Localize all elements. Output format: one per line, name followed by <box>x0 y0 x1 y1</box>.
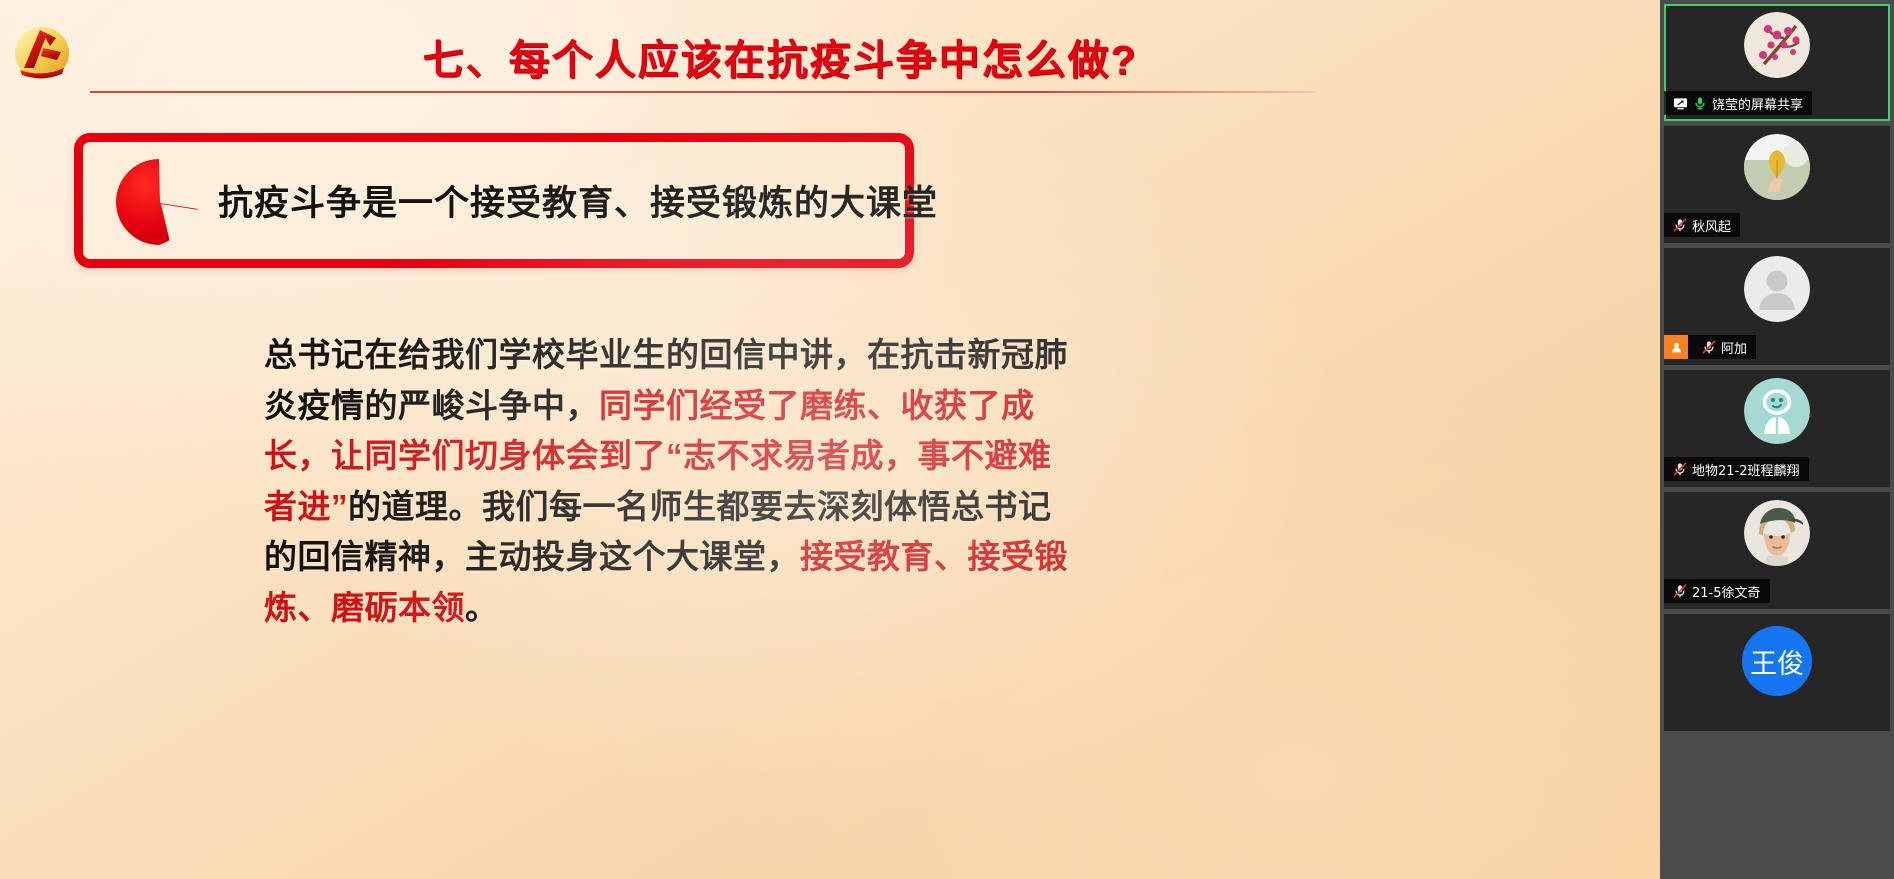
avatar-wrap <box>1664 500 1890 566</box>
participant-name: 饶莹的屏幕共享 <box>1712 94 1803 113</box>
slide-body-paragraph: 总书记在给我们学校毕业生的回信中讲，在抗击新冠肺炎疫情的严峻斗争中，同学们经受了… <box>264 330 1072 633</box>
mic-muted-icon <box>1664 218 1687 232</box>
avatar-wrap <box>1664 256 1890 322</box>
participant-tile[interactable]: 阿加 <box>1664 248 1890 365</box>
participant-name: 阿加 <box>1721 338 1747 357</box>
avatar <box>1744 12 1810 78</box>
participant-tile[interactable]: 秋风起 <box>1664 126 1890 243</box>
participant-tile[interactable]: 饶莹的屏幕共享 <box>1664 4 1890 121</box>
headline-banner-inner: 抗疫斗争是一个接受教育、接受锻炼的大课堂 <box>88 147 900 254</box>
participant-nameplate: 地物21-2班程麟翔 <box>1664 457 1809 481</box>
headline-banner: 抗疫斗争是一个接受教育、接受锻炼的大课堂 <box>74 133 914 268</box>
body-run: 的道理。我们每一名师 <box>348 488 683 525</box>
avatar-wrap <box>1664 12 1890 78</box>
mic-muted-icon <box>1664 462 1687 476</box>
avatar-wrap: 王俊 <box>1664 626 1890 696</box>
avatar <box>1744 256 1810 322</box>
host-person-icon <box>1664 335 1688 359</box>
participant-tile[interactable]: 地物21-2班程麟翔 <box>1664 370 1890 487</box>
avatar-initials-label: 王俊 <box>1750 642 1804 681</box>
participant-nameplate: 秋风起 <box>1664 213 1740 237</box>
mic-muted-icon <box>1693 340 1716 354</box>
participant-tile[interactable]: 21-5徐文奇 <box>1664 492 1890 609</box>
participant-name: 21-5徐文奇 <box>1692 582 1761 601</box>
mic-on-icon <box>1693 96 1707 110</box>
avatar-initials: 王俊 <box>1742 626 1812 696</box>
avatar <box>1744 500 1810 566</box>
title-underline-rule <box>90 91 1315 93</box>
body-run: 严峻斗争中， <box>398 387 599 424</box>
slide-title: 七、每个人应该在抗疫斗争中怎么做? <box>0 26 1560 86</box>
zoom-screen-share-window: 七、每个人应该在抗疫斗争中怎么做? <box>0 0 1894 879</box>
shared-slide-content: 七、每个人应该在抗疫斗争中怎么做? <box>0 0 1660 879</box>
participant-nameplate: 阿加 <box>1664 335 1756 359</box>
participant-nameplate: 21-5徐文奇 <box>1664 579 1770 603</box>
screen-share-icon <box>1664 96 1688 111</box>
red-comma-icon <box>114 157 204 249</box>
participant-name: 秋风起 <box>1692 216 1731 235</box>
slide-header: 七、每个人应该在抗疫斗争中怎么做? <box>0 0 1660 112</box>
participant-filmstrip[interactable]: 饶莹的屏幕共享 <box>1660 0 1894 879</box>
avatar-wrap <box>1664 378 1890 444</box>
participant-name: 地物21-2班程麟翔 <box>1692 460 1800 479</box>
avatar-wrap <box>1664 134 1890 200</box>
participant-tile[interactable]: 王俊 <box>1664 614 1890 731</box>
body-run: 。 <box>465 589 499 626</box>
mic-muted-icon <box>1664 584 1687 598</box>
participant-nameplate: 饶莹的屏幕共享 <box>1664 91 1812 115</box>
avatar <box>1744 378 1810 444</box>
avatar <box>1744 134 1810 200</box>
headline-banner-text: 抗疫斗争是一个接受教育、接受锻炼的大课堂 <box>218 147 886 254</box>
